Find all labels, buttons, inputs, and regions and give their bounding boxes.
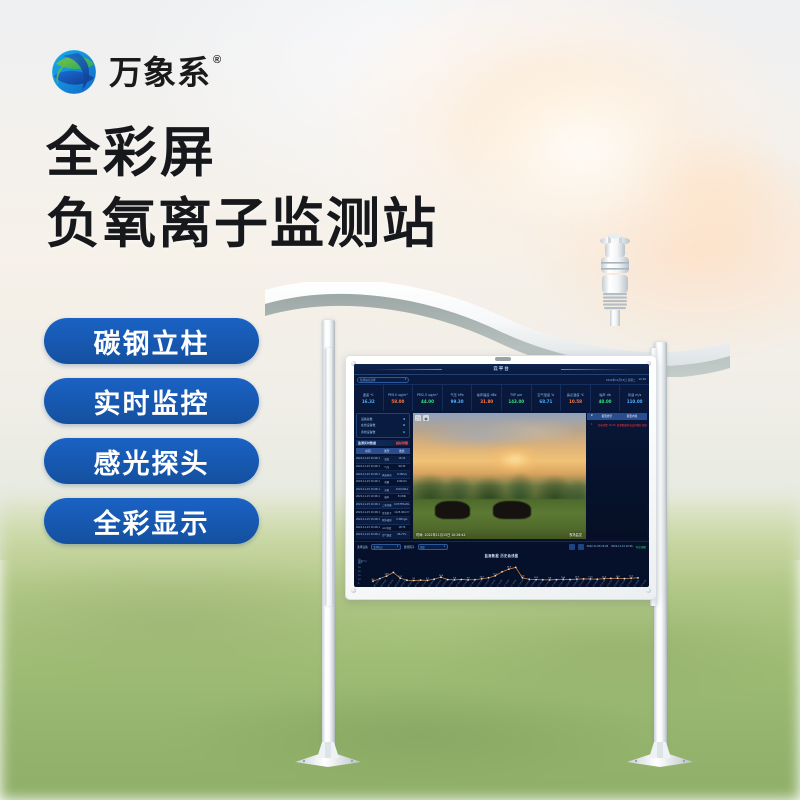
svg-text:12.4: 12.4 [520,576,525,578]
metric-label: TSP μm [510,393,522,397]
dashboard-center-panel: ⛶ ◉ 时间: 2022年11月15日 10:26:42 牧场监控 [412,411,587,541]
metric-strip: 温度 ℃16.32PM10 ug/m³58.00PM2.5 ug/m³44.00… [354,384,649,411]
table-row[interactable]: 2022-11-15 10:26:18负氧离子1125.00/cm³ [356,509,410,517]
table-cell: voc浓度 [380,526,394,530]
stat-value: 3 [403,417,405,421]
base-plate-right [623,742,697,768]
table-cell: 68.71% [394,533,410,537]
alarm-table-body[interactable]: 1超标预警 10:26监测数据超出设定阈值,请及时处理 [587,422,647,429]
table-cell: 18.70 [394,526,410,530]
clock-date: 2022年11月15日 星期二 [606,378,636,382]
metric-value: 16.32 [362,399,375,404]
table-cell: 气压 [380,465,394,469]
svg-text:12.2: 12.2 [629,576,633,578]
table-cell: 0.38mg/L [394,518,410,522]
metric-card-2: PM2.5 ug/m³44.00 [413,385,443,411]
alarm-cell: 超标预警 10:26 [597,423,617,427]
stat-value: 2 [403,423,405,427]
alarm-cell: 监测数据超出设定阈值,请及时处理 [617,423,647,427]
site-select-dropdown[interactable]: 监测站点选择 ▾ [357,377,409,383]
table-row[interactable]: 2022-11-15 10:26:18光照1010.00Lx [356,487,410,495]
metric-value: 99.30 [451,399,464,404]
table-cell: 0.00mm [394,480,410,484]
metric-card-9: 风速 m/s110.00 [620,385,649,411]
y-tick-label: 5 [358,583,361,585]
video-player[interactable]: ⛶ ◉ 时间: 2022年11月15日 10:26:42 牧场监控 [413,413,586,539]
table-cell: 31.8db [394,495,410,499]
metric-label: 气压 kPa [450,392,463,397]
metric-value: 31.80 [480,399,493,404]
alarm-empty-area [587,431,647,539]
table-column-header: 类型 [380,449,394,453]
svg-text:12.1: 12.1 [398,576,402,578]
metric-label: 空气湿度 % [537,392,554,397]
table-cell: 1010.00Lx [394,488,410,492]
table-cell: 雨量 [380,480,394,484]
feature-pill-realtime[interactable]: 实时监控 [44,378,259,424]
device-filter-label: 选择设备 [357,545,368,549]
table-cell: 噪声 [380,495,394,499]
camera-snapshot-icon[interactable]: ◉ [423,415,429,421]
screw-icon [646,588,651,593]
y-tick-label: 25 [358,567,361,569]
alarm-column-header: 报警内容 [617,414,647,418]
table-row[interactable]: 2022-11-15 10:26:18二氧化碳0.0578%VOL [356,502,410,510]
table-row[interactable]: 2022-11-15 10:26:18风速风向0.38m/s [356,471,410,479]
chart-title: 监测数据 历史曲线图 [358,553,645,558]
metric-card-3: 气压 kPa99.30 [443,385,473,411]
clock-time: 10:26 [639,378,646,382]
table-cell: 二氧化碳 [380,503,394,507]
table-cell: 风速风向 [380,473,394,477]
dashboard-body: 设备总数3在线设备数2离线设备数1 监测实时数据 超标预警 时间类型数值 202… [354,411,649,541]
svg-text:8.2: 8.2 [372,579,375,581]
y-tick-label: 30 [358,563,361,565]
metric-value: 68.71 [539,399,552,404]
metric-label: PM10 ug/m³ [388,393,408,397]
y-tick-label: 15 [358,575,361,577]
metric-card-6: 空气湿度 %68.71 [532,385,562,411]
brand-name: 万象系 [109,56,211,89]
table-cell: 空气湿度 [380,533,394,537]
feature-pill-list: 碳钢立柱 实时监控 感光探头 全彩显示 [44,318,259,544]
y-tick-label: 20 [358,571,361,573]
svg-text:12.0: 12.0 [616,576,621,578]
video-cattle [493,501,531,519]
table-column-header: 时间 [356,449,380,453]
monitoring-station: 云平台 监测站点选择 ▾ 2022年11月15日 星期二 10:26 温度 ℃1… [265,230,735,775]
table-cell: 16.32 [394,457,410,461]
table-cell: 2022-11-15 10:26:18 [356,518,380,522]
history-chart: 监测数据 历史曲线图 温度(℃) 35302520151050 8.214.81… [354,551,649,587]
factor-filter-value: 温度 [420,545,425,549]
table-cell: 2022-11-15 10:26:18 [356,480,380,484]
svg-text:15.2: 15.2 [493,573,497,575]
metric-label: 温度 ℃ [363,392,374,397]
headline-line-1: 全彩屏 [46,124,438,182]
dashboard-title: 云平台 [493,366,510,372]
alarm-table-header: #报警类型报警内容 [587,413,647,420]
table-cell: 2022-11-15 10:26:18 [356,473,380,477]
feature-pill-steel-post[interactable]: 碳钢立柱 [44,318,259,364]
realtime-table-header: 监测实时数据 超标预警 [356,440,410,446]
table-cell: 1125.00/cm³ [394,511,410,515]
metric-label: 露点温度 ℃ [567,392,584,397]
video-cattle [435,501,470,519]
table-cell: 99.30 [394,465,410,469]
factor-filter-label: 监测因子 [404,545,415,549]
table-cell: 2022-11-15 10:26:18 [356,503,380,507]
table-row[interactable]: 2022-11-15 10:26:18气压99.30 [356,464,410,472]
factor-filter-select[interactable]: 温度 ▾ [418,544,448,550]
metric-value: 110.00 [627,399,643,404]
y-tick-label: 35 [358,559,361,561]
realtime-table-columns: 时间类型数值 [356,448,410,454]
metric-value: 58.00 [391,399,404,404]
video-watermark: 牧场监控 [569,532,582,537]
globe-swirl-logo-icon [48,46,100,98]
expand-icon[interactable]: ⛶ [415,415,421,421]
device-filter-value: 监测站点 [373,545,383,549]
table-column-header: 数值 [394,449,410,453]
alarm-cell: 1 [587,423,597,427]
brand-logo: 万象系 ® [48,46,221,98]
video-frame [413,413,586,539]
start-time-field[interactable]: 2022-11-08 10:26 [587,545,609,548]
metric-label: 噪声 db [599,392,611,397]
end-time-field[interactable]: 2022-11-15 10:26 [611,545,633,548]
dashboard-header: 云平台 [354,364,649,375]
table-row[interactable]: 2022-11-15 10:26:18噪声31.8db [356,494,410,502]
table-cell: 2022-11-15 10:26:18 [356,465,380,469]
dashboard-left-panel: 设备总数3在线设备数2离线设备数1 监测实时数据 超标预警 时间类型数值 202… [354,411,412,541]
screen-rail-left [325,348,332,606]
dashboard-screen: 云平台 监测站点选择 ▾ 2022年11月15日 星期二 10:26 温度 ℃1… [354,364,649,587]
table-cell: 紫外辐射 [380,518,394,522]
table-cell: 2022-11-15 10:26:18 [356,457,380,461]
alarm-row[interactable]: 1超标预警 10:26监测数据超出设定阈值,请及时处理 [587,422,647,429]
metric-card-8: 噪声 db48.00 [591,385,621,411]
device-stat-row: 在线设备数2 [361,423,405,427]
table-cell: 0.38m/s [394,473,410,477]
metric-value: 143.00 [508,399,524,404]
alarm-badge: 超标预警 [396,441,408,445]
metric-label: 噪声强度 dBz [477,392,497,397]
stat-label: 在线设备数 [361,423,375,427]
feature-pill-light-sensor[interactable]: 感光探头 [44,438,259,484]
alarm-column-header: # [587,414,597,418]
metric-card-7: 露点温度 ℃10.58 [561,385,591,411]
banner-canvas: 万象系 ® 全彩屏 负氧离子监测站 碳钢立柱 实时监控 感光探头 全彩显示 [0,0,800,800]
device-stat-row: 设备总数3 [361,417,405,421]
table-cell: 2022-11-15 10:26:18 [356,495,380,499]
table-cell: 2022-11-15 10:26:18 [356,533,380,537]
metric-card-5: TSP μm143.00 [502,385,532,411]
table-cell: 光照 [380,488,394,492]
alarm-column-header: 报警类型 [597,414,617,418]
device-stat-row: 离线设备数1 [361,430,405,434]
video-treeline [413,458,586,501]
device-stat-box: 设备总数3在线设备数2离线设备数1 [356,413,410,438]
metric-label: PM2.5 ug/m³ [417,393,438,397]
table-row[interactable]: 2022-11-15 10:26:18voc浓度18.70 [356,525,410,533]
video-timestamp: 时间: 2022年11月15日 10:26:42 [416,532,466,537]
base-plate-left [291,742,365,768]
led-display-enclosure: 云平台 监测站点选择 ▾ 2022年11月15日 星期二 10:26 温度 ℃1… [345,355,657,600]
realtime-table-body[interactable]: 2022-11-15 10:26:18温度16.322022-11-15 10:… [356,456,410,539]
table-cell: 负氧离子 [380,511,394,515]
feature-pill-fullcolor[interactable]: 全彩显示 [44,498,259,544]
device-filter-select[interactable]: 监测站点 ▾ [371,544,401,550]
metric-value: 10.58 [569,399,582,404]
table-cell: 2022-11-15 10:26:18 [356,526,380,530]
metric-card-0: 温度 ℃16.32 [354,385,384,411]
dashboard-subheader: 监测站点选择 ▾ 2022年11月15日 星期二 10:26 [354,375,649,384]
table-row[interactable]: 2022-11-15 10:26:18雨量0.00mm [356,479,410,487]
dashboard-clock: 2022年11月15日 星期二 10:26 [606,378,646,382]
metric-label: 风速 m/s [628,392,641,397]
table-cell: 温度 [380,457,394,461]
chart-toolbar: 选择设备 监测站点 ▾ 监测因子 温度 ▾ 2022-11-08 10:26 [354,541,649,551]
video-controls[interactable]: ⛶ ◉ [415,415,429,421]
metric-card-1: PM10 ug/m³58.00 [384,385,414,411]
table-row[interactable]: 2022-11-15 10:26:18紫外辐射0.38mg/L [356,517,410,525]
chevron-down-icon: ▾ [405,378,406,381]
table-cell: 2022-11-15 10:26:18 [356,511,380,515]
export-refresh-buttons[interactable]: 导出 刷新 [636,545,646,549]
realtime-table-title: 监测实时数据 [358,441,376,445]
stat-label: 设备总数 [361,417,373,421]
metric-card-4: 噪声强度 dBz31.80 [472,385,502,411]
stat-label: 离线设备数 [361,430,375,434]
chart-y-ticks: 35302520151050 [358,559,361,587]
stat-value: 1 [403,430,405,434]
screw-icon [351,588,356,593]
y-tick-label: 10 [358,579,361,581]
table-row[interactable]: 2022-11-15 10:26:18温度16.32 [356,456,410,464]
table-row[interactable]: 2022-11-15 10:26:18空气湿度68.71% [356,532,410,539]
metric-value: 44.00 [421,399,434,404]
chevron-down-icon: ▾ [397,545,398,548]
site-select-value: 监测站点选择 [360,378,376,382]
registered-mark-icon: ® [213,54,221,66]
table-icon[interactable] [578,544,584,550]
table-cell: 0.0578%VOL [394,503,410,507]
table-cell: 2022-11-15 10:26:18 [356,488,380,492]
dashboard-right-panel: #报警类型报警内容 1超标预警 10:26监测数据超出设定阈值,请及时处理 [587,411,649,541]
chevron-down-icon: ▾ [444,545,445,548]
svg-text:13.4: 13.4 [439,575,444,577]
bar-chart-icon[interactable] [569,544,575,550]
metric-value: 48.00 [599,399,612,404]
